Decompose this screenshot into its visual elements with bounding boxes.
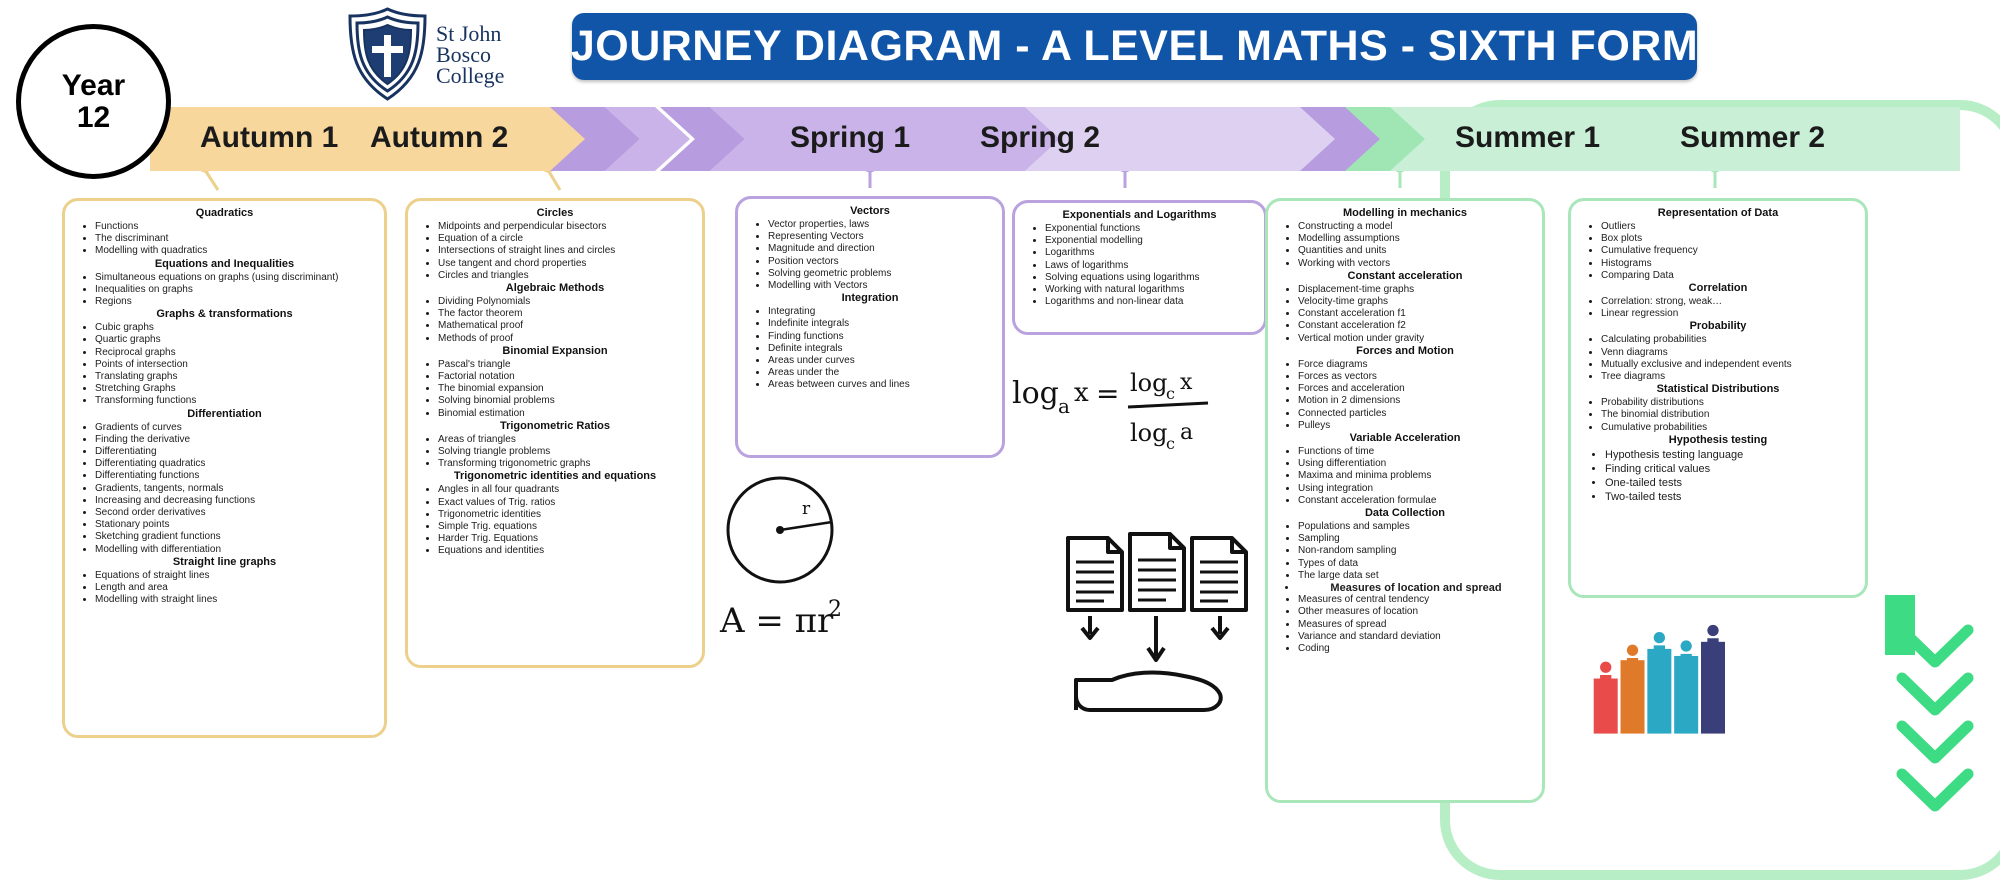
green-solid-block-decoration xyxy=(1885,595,1915,655)
section-heading: Forces and Motion xyxy=(1276,345,1534,358)
list-item: Vector properties, laws xyxy=(768,219,994,231)
list-item: Inequalities on graphs xyxy=(95,284,376,296)
section-list: Dividing Polynomials The factor theorem … xyxy=(416,296,694,345)
list-item: Indefinite integrals xyxy=(768,318,994,330)
list-item: Harder Trig. Equations xyxy=(438,533,694,545)
svg-text:2: 2 xyxy=(828,597,842,622)
section-list: Vector properties, laws Representing Vec… xyxy=(746,219,994,292)
log-change-of-base-formula: log a x = log c x log c a xyxy=(1010,355,1230,465)
list-item: Linear regression xyxy=(1601,308,1857,320)
list-item: Intersections of straight lines and circ… xyxy=(438,245,694,257)
section-list: Calculating probabilities Venn diagrams … xyxy=(1579,334,1857,383)
section-list: Correlation: strong, weak… Linear regres… xyxy=(1579,296,1857,320)
list-item: Two-tailed tests xyxy=(1605,490,1857,504)
logo-line-1: St John xyxy=(436,23,504,44)
list-item: Areas under curves xyxy=(768,355,994,367)
section-list: Gradients of curves Finding the derivati… xyxy=(73,422,376,556)
list-item: Measures of spread xyxy=(1298,619,1534,631)
section-list: Cubic graphs Quartic graphs Reciprocal g… xyxy=(73,322,376,407)
list-item: The discriminant xyxy=(95,233,376,245)
section-list: Probability distributions The binomial d… xyxy=(1579,397,1857,434)
section-heading: Integration xyxy=(746,292,994,305)
list-item: Quantities and units xyxy=(1298,245,1534,257)
list-item: Measures of central tendency xyxy=(1298,594,1534,606)
list-item: Use tangent and chord properties xyxy=(438,258,694,270)
list-item: Factorial notation xyxy=(438,371,694,383)
svg-text:x: x xyxy=(1180,370,1193,395)
svg-text:=: = xyxy=(1096,377,1119,410)
list-item: Modelling with differentiation xyxy=(95,544,376,556)
list-item: Vertical motion under gravity xyxy=(1298,333,1534,345)
list-item: Variance and standard deviation xyxy=(1298,631,1534,643)
svg-text:log: log xyxy=(1012,376,1059,411)
list-item: Regions xyxy=(95,296,376,308)
list-item: Non-random sampling xyxy=(1298,545,1534,557)
topic-box-autumn-2: Circles Midpoints and perpendicular bise… xyxy=(405,198,705,668)
topic-box-spring-2: Exponentials and Logarithms Exponential … xyxy=(1012,200,1267,335)
list-item: Motion in 2 dimensions xyxy=(1298,395,1534,407)
list-item: Exponential functions xyxy=(1045,223,1256,235)
list-item: Reciprocal graphs xyxy=(95,347,376,359)
section-heading-bullet: Measures of location and spread xyxy=(1298,582,1534,594)
list-item: Methods of proof xyxy=(438,333,694,345)
list-item: Gradients, tangents, normals xyxy=(95,483,376,495)
list-item: Finding the derivative xyxy=(95,434,376,446)
list-item: Connected particles xyxy=(1298,408,1534,420)
section-heading: Straight line graphs xyxy=(73,556,376,569)
section-list: Angles in all four quadrants Exact value… xyxy=(416,484,694,557)
list-item: Finding functions xyxy=(768,331,994,343)
list-item: Functions of time xyxy=(1298,446,1534,458)
list-item: Mutually exclusive and independent event… xyxy=(1601,359,1857,371)
list-item: Solving equations using logarithms xyxy=(1045,272,1256,284)
list-item: Logarithms xyxy=(1045,247,1256,259)
svg-text:A = πr: A = πr xyxy=(719,601,834,641)
list-item: The binomial distribution xyxy=(1601,409,1857,421)
year-badge: Year 12 xyxy=(16,24,171,179)
section-list: Populations and samples Sampling Non-ran… xyxy=(1276,521,1534,582)
list-item: Maxima and minima problems xyxy=(1298,470,1534,482)
list-item: Modelling assumptions xyxy=(1298,233,1534,245)
svg-text:log: log xyxy=(1130,369,1168,397)
list-item: Angles in all four quadrants xyxy=(438,484,694,496)
list-item: Calculating probabilities xyxy=(1601,334,1857,346)
list-item: Solving triangle problems xyxy=(438,446,694,458)
list-item: The factor theorem xyxy=(438,308,694,320)
list-item: Second order derivatives xyxy=(95,507,376,519)
list-item: Velocity-time graphs xyxy=(1298,296,1534,308)
list-item: Equations and identities xyxy=(438,545,694,557)
section-list: Hypothesis testing language Finding crit… xyxy=(1579,448,1857,504)
section-list: Functions of time Using differentiation … xyxy=(1276,446,1534,507)
list-item: Logarithms and non-linear data xyxy=(1045,296,1256,308)
section-heading: Variable Acceleration xyxy=(1276,432,1534,445)
list-item: Finding critical values xyxy=(1605,462,1857,476)
svg-text:c: c xyxy=(1166,384,1175,403)
list-item: Equations of straight lines xyxy=(95,570,376,582)
list-item: Working with natural logarithms xyxy=(1045,284,1256,296)
list-item: Magnitude and direction xyxy=(768,243,994,255)
list-item: Definite integrals xyxy=(768,343,994,355)
section-heading: Trigonometric Ratios xyxy=(416,420,694,433)
list-item: Forces as vectors xyxy=(1298,371,1534,383)
list-item: Displacement-time graphs xyxy=(1298,284,1534,296)
list-item: Solving geometric problems xyxy=(768,268,994,280)
list-item: Working with vectors xyxy=(1298,258,1534,270)
list-item: Quartic graphs xyxy=(95,334,376,346)
year-label: Year xyxy=(62,70,125,102)
topic-box-summer-2: Representation of Data Outliers Box plot… xyxy=(1568,198,1868,598)
list-item: Forces and acceleration xyxy=(1298,383,1534,395)
list-item: Constructing a model xyxy=(1298,221,1534,233)
list-item: Areas under the xyxy=(768,367,994,379)
list-item: Differentiating functions xyxy=(95,470,376,482)
list-item: Sampling xyxy=(1298,533,1534,545)
list-item: Translating graphs xyxy=(95,371,376,383)
section-heading: Constant acceleration xyxy=(1276,270,1534,283)
section-list: Displacement-time graphs Velocity-time g… xyxy=(1276,284,1534,345)
list-item: Integrating xyxy=(768,306,994,318)
list-item: Venn diagrams xyxy=(1601,347,1857,359)
list-item: Modelling with Vectors xyxy=(768,280,994,292)
section-heading: Data Collection xyxy=(1276,507,1534,520)
list-item: Probability distributions xyxy=(1601,397,1857,409)
list-item: Areas of triangles xyxy=(438,434,694,446)
list-item: Binomial estimation xyxy=(438,408,694,420)
section-list: Simultaneous equations on graphs (using … xyxy=(73,272,376,309)
topic-box-summer-1: Modelling in mechanics Constructing a mo… xyxy=(1265,198,1545,803)
list-item: Midpoints and perpendicular bisectors xyxy=(438,221,694,233)
section-list: Areas of triangles Solving triangle prob… xyxy=(416,434,694,471)
shield-icon xyxy=(345,6,430,102)
list-item: Functions xyxy=(95,221,376,233)
list-item: Other measures of location xyxy=(1298,606,1534,618)
svg-text:c: c xyxy=(1166,434,1175,453)
list-item: Length and area xyxy=(95,582,376,594)
list-item: Constant acceleration f2 xyxy=(1298,320,1534,332)
page-title-banner: JOURNEY DIAGRAM - A LEVEL MATHS - SIXTH … xyxy=(572,13,1697,80)
list-item: Constant acceleration f1 xyxy=(1298,308,1534,320)
people-bar-chart-icon xyxy=(1560,615,1770,735)
list-item: Cubic graphs xyxy=(95,322,376,334)
section-list: Pascal's triangle Factorial notation The… xyxy=(416,359,694,420)
svg-text:x: x xyxy=(1074,378,1089,408)
list-item: Cumulative probabilities xyxy=(1601,422,1857,434)
list-item: One-tailed tests xyxy=(1605,476,1857,490)
section-heading: Binomial Expansion xyxy=(416,345,694,358)
list-item: Simple Trig. equations xyxy=(438,521,694,533)
section-heading: Measures of location and spread xyxy=(1330,582,1501,594)
list-item: Position vectors xyxy=(768,256,994,268)
list-item: Force diagrams xyxy=(1298,359,1534,371)
list-item: Transforming trigonometric graphs xyxy=(438,458,694,470)
list-item: Mathematical proof xyxy=(438,320,694,332)
section-heading: Trigonometric identities and equations xyxy=(416,470,694,483)
section-list: Functions The discriminant Modelling wit… xyxy=(73,221,376,258)
list-item: Trigonometric identities xyxy=(438,509,694,521)
list-item: Sketching gradient functions xyxy=(95,531,376,543)
list-item: Equation of a circle xyxy=(438,233,694,245)
list-item: Solving binomial problems xyxy=(438,395,694,407)
list-item: Using integration xyxy=(1298,483,1534,495)
list-item: The binomial expansion xyxy=(438,383,694,395)
list-item: Populations and samples xyxy=(1298,521,1534,533)
list-item: Differentiating xyxy=(95,446,376,458)
section-heading: Hypothesis testing xyxy=(1579,434,1857,447)
school-name: St John Bosco College xyxy=(436,23,504,86)
list-item: Dividing Polynomials xyxy=(438,296,694,308)
section-list: Equations of straight lines Length and a… xyxy=(73,570,376,607)
list-item: Simultaneous equations on graphs (using … xyxy=(95,272,376,284)
section-heading: Differentiation xyxy=(73,408,376,421)
list-item: Outliers xyxy=(1601,221,1857,233)
list-item: Comparing Data xyxy=(1601,270,1857,282)
section-list: Exponential functions Exponential modell… xyxy=(1023,223,1256,308)
list-item: Coding xyxy=(1298,643,1534,655)
section-list-bulleted-heading: Measures of location and spread xyxy=(1276,582,1534,594)
section-list: Outliers Box plots Cumulative frequency … xyxy=(1579,221,1857,282)
section-heading: Equations and Inequalities xyxy=(73,258,376,271)
list-item: Laws of logarithms xyxy=(1045,260,1256,272)
documents-to-hand-icon xyxy=(1060,530,1250,740)
section-heading: Correlation xyxy=(1579,282,1857,295)
list-item: Pascal's triangle xyxy=(438,359,694,371)
list-item: Histograms xyxy=(1601,258,1857,270)
list-item: Modelling with straight lines xyxy=(95,594,376,606)
list-item: Constant acceleration formulae xyxy=(1298,495,1534,507)
list-item: Stretching Graphs xyxy=(95,383,376,395)
topic-box-autumn-1: Quadratics Functions The discriminant Mo… xyxy=(62,198,387,738)
svg-text:log: log xyxy=(1130,419,1168,447)
list-item: Circles and triangles xyxy=(438,270,694,282)
logo-line-2: Bosco xyxy=(436,44,504,65)
section-list: Force diagrams Forces as vectors Forces … xyxy=(1276,359,1534,432)
svg-text:r: r xyxy=(802,499,811,519)
term-ribbon xyxy=(150,107,1960,171)
svg-text:a: a xyxy=(1180,420,1193,445)
list-item: Gradients of curves xyxy=(95,422,376,434)
circle-area-diagram: r A = πr 2 xyxy=(718,470,858,650)
list-item: Transforming functions xyxy=(95,395,376,407)
list-item: Exponential modelling xyxy=(1045,235,1256,247)
section-group: Quadratics Functions The discriminant Mo… xyxy=(73,207,376,606)
list-item: Types of data xyxy=(1298,558,1534,570)
section-heading: Statistical Distributions xyxy=(1579,383,1857,396)
section-heading: Algebraic Methods xyxy=(416,282,694,295)
list-item: Box plots xyxy=(1601,233,1857,245)
page-title: JOURNEY DIAGRAM - A LEVEL MATHS - SIXTH … xyxy=(571,22,1698,71)
list-item: Cumulative frequency xyxy=(1601,245,1857,257)
list-item: Tree diagrams xyxy=(1601,371,1857,383)
section-list: Midpoints and perpendicular bisectors Eq… xyxy=(416,221,694,282)
year-number: 12 xyxy=(77,102,110,134)
list-item: Hypothesis testing language xyxy=(1605,448,1857,462)
list-item: Correlation: strong, weak… xyxy=(1601,296,1857,308)
list-item: Points of intersection xyxy=(95,359,376,371)
list-item: The large data set xyxy=(1298,570,1534,582)
list-item: Stationary points xyxy=(95,519,376,531)
list-item: Areas between curves and lines xyxy=(768,379,994,391)
list-item: Increasing and decreasing functions xyxy=(95,495,376,507)
list-item: Pulleys xyxy=(1298,420,1534,432)
section-list: Integrating Indefinite integrals Finding… xyxy=(746,306,994,391)
section-heading: Graphs & transformations xyxy=(73,308,376,321)
school-logo: St John Bosco College xyxy=(345,4,570,104)
section-list: Constructing a model Modelling assumptio… xyxy=(1276,221,1534,270)
svg-text:a: a xyxy=(1058,394,1070,418)
list-item: Differentiating quadratics xyxy=(95,458,376,470)
list-item: Using differentiation xyxy=(1298,458,1534,470)
section-list: Measures of central tendency Other measu… xyxy=(1276,594,1534,655)
section-heading: Probability xyxy=(1579,320,1857,333)
list-item: Exact values of Trig. ratios xyxy=(438,497,694,509)
list-item: Modelling with quadratics xyxy=(95,245,376,257)
logo-line-3: College xyxy=(436,65,504,86)
list-item: Representing Vectors xyxy=(768,231,994,243)
topic-box-spring-1: Vectors Vector properties, laws Represen… xyxy=(735,196,1005,458)
